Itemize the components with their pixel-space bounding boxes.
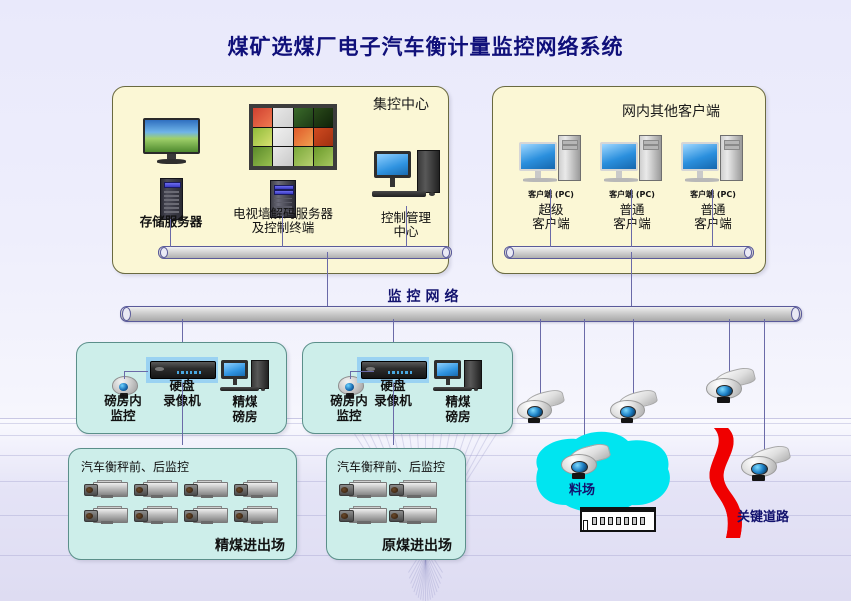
key-road-label: 关键道路 bbox=[737, 506, 789, 525]
client-pc-icon-3 bbox=[681, 133, 743, 189]
weighhouse-site-label-2-line2: 磅房 bbox=[427, 410, 489, 425]
yard-camera-left-icon bbox=[517, 392, 561, 424]
control-center-inner-bus bbox=[158, 246, 452, 259]
box-camera-icon bbox=[184, 505, 226, 526]
wire-bus-to-yard-cam-left bbox=[540, 319, 541, 397]
box-camera-icon bbox=[389, 505, 435, 526]
yard-camera-center-icon bbox=[561, 446, 607, 480]
box-camera-icon bbox=[339, 479, 385, 500]
wire-cam1-to-dvr bbox=[124, 371, 148, 372]
wire-bus-to-yard-cam-right bbox=[633, 319, 634, 397]
wire-dvr1-to-camerabox bbox=[182, 383, 183, 445]
camera-grid-2 bbox=[338, 478, 438, 530]
wire-cam2-up bbox=[350, 371, 351, 379]
weighhouse-camera-label-2-line2: 监控 bbox=[314, 409, 384, 424]
box-camera-icon bbox=[134, 479, 176, 500]
wire-bus-to-road-cam-upper bbox=[729, 319, 730, 375]
yard-building-icon bbox=[580, 510, 656, 532]
road-camera-upper-icon bbox=[706, 370, 752, 404]
box-camera-icon bbox=[84, 479, 126, 500]
wire-control-to-bus bbox=[406, 206, 407, 247]
box-camera-icon bbox=[389, 479, 435, 500]
weighhouse-camera-label-1-line2: 监控 bbox=[88, 409, 158, 424]
wire-cam2-to-dvr bbox=[350, 371, 374, 372]
other-clients-inner-bus bbox=[504, 246, 754, 259]
weighhouse-site-label-1-line2: 磅房 bbox=[214, 410, 276, 425]
weighhouse-pc-icon-1 bbox=[219, 357, 271, 399]
camera-box-2-heading: 汽车衡秤前、后监控 bbox=[337, 458, 445, 475]
page-title: 煤矿选煤厂电子汽车衡计量监控网络系统 bbox=[0, 31, 851, 61]
weighhouse-site-label-2-line1: 精煤 bbox=[427, 395, 489, 410]
video-wall-icon bbox=[249, 104, 337, 170]
yard-label: 料场 bbox=[569, 479, 595, 498]
weighhouse-pc-icon-2 bbox=[432, 357, 484, 399]
client-pc-icon-1 bbox=[519, 133, 581, 189]
box-camera-icon bbox=[234, 479, 276, 500]
yard-camera-right-icon bbox=[610, 392, 654, 424]
weighhouse-site-label-1-line1: 精煤 bbox=[214, 395, 276, 410]
storage-server-monitor-icon bbox=[143, 118, 200, 166]
wire-cam1-up bbox=[124, 371, 125, 379]
box-camera-icon bbox=[84, 505, 126, 526]
wire-decoder-to-bus bbox=[282, 216, 283, 247]
wire-client2-to-bus bbox=[631, 189, 632, 247]
box-camera-icon bbox=[234, 505, 276, 526]
client-pc-icon-2 bbox=[600, 133, 662, 189]
wire-client3-to-bus bbox=[712, 189, 713, 247]
wire-storage-to-bus bbox=[170, 219, 171, 247]
other-clients-title: 网内其他客户端 bbox=[622, 101, 720, 121]
box-camera-icon bbox=[339, 505, 385, 526]
road-camera-lower-icon bbox=[741, 448, 787, 482]
box-camera-icon bbox=[134, 505, 176, 526]
wire-bus-to-road-cam-lower bbox=[764, 319, 765, 453]
wire-client1-to-bus bbox=[550, 189, 551, 247]
diagram-canvas: 煤矿选煤厂电子汽车衡计量监控网络系统 集控中心 存储服务器 电视墙解码服务 bbox=[0, 0, 851, 601]
wire-dvr2-to-camerabox bbox=[393, 383, 394, 445]
camera-grid-1 bbox=[82, 478, 282, 530]
network-bus-label: 监控网络 bbox=[0, 286, 851, 306]
camera-box-1-heading: 汽车衡秤前、后监控 bbox=[81, 458, 189, 475]
control-center-title: 集控中心 bbox=[373, 94, 429, 114]
control-management-pc-icon bbox=[371, 146, 443, 208]
camera-box-2-footer: 原煤进出场 bbox=[352, 538, 452, 554]
camera-box-1-footer: 精煤进出场 bbox=[185, 538, 285, 554]
box-camera-icon bbox=[184, 479, 226, 500]
monitoring-network-bus bbox=[120, 306, 802, 322]
